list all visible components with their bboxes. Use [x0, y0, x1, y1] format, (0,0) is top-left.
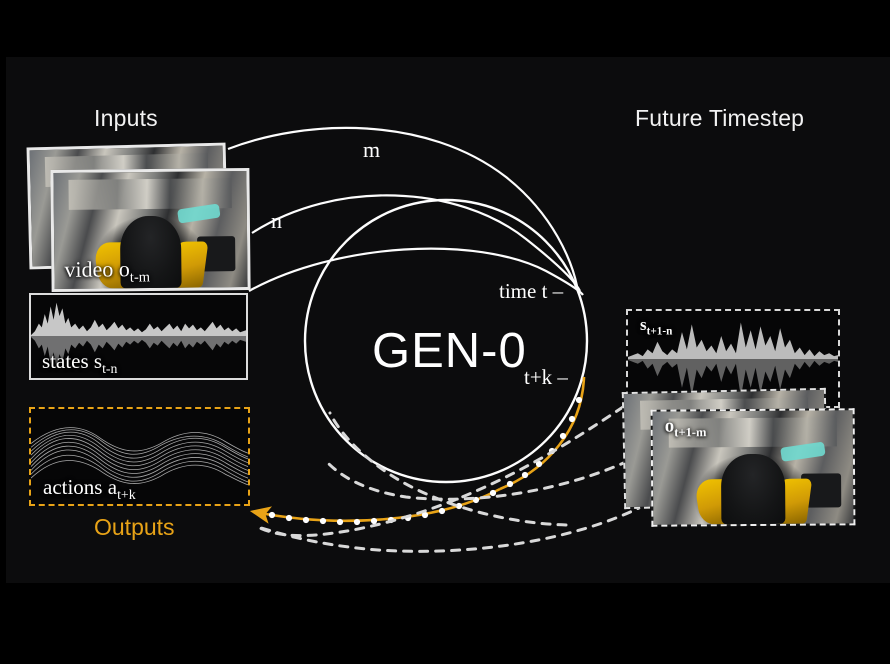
diagram-canvas: Inputs Future Timestep m n GEN-0 time t … — [0, 0, 890, 664]
section-title-outputs: Outputs — [94, 514, 175, 541]
orange-arc — [500, 377, 584, 489]
output-path-dots — [269, 397, 582, 525]
section-title-future-timestep: Future Timestep — [635, 105, 804, 132]
future-states-caption: st+1-n — [640, 315, 672, 337]
input-video-caption: video ot-m — [64, 256, 150, 287]
scene-teal-object — [177, 203, 221, 223]
output-actions-panel[interactable]: actions at+k — [29, 407, 250, 506]
dotted-inner-2 — [330, 413, 566, 525]
scene-gripper-right — [163, 241, 208, 288]
curve-m — [228, 128, 577, 286]
scene-teal-object — [780, 441, 826, 461]
curve-n — [252, 195, 580, 291]
model-name-label: GEN-0 — [372, 323, 527, 379]
future-video-frame-front[interactable]: ot+1-m — [651, 408, 856, 526]
dotted-feedback-1 — [258, 407, 623, 536]
output-actions-caption: actions at+k — [43, 475, 136, 503]
curve-label-m: m — [363, 137, 380, 163]
future-video-caption: ot+1-m — [665, 415, 707, 440]
tick-label-t-plus-k: t+k – — [524, 365, 568, 390]
input-states-caption: states st-n — [42, 349, 117, 377]
input-video-frame-front[interactable]: video ot-m — [50, 168, 250, 292]
input-states-panel[interactable]: states st-n — [29, 293, 248, 380]
output-arrow-path — [255, 489, 500, 521]
scene-gripper-right — [766, 478, 812, 524]
curve-label-n: n — [271, 208, 282, 234]
diagram-content-area: Inputs Future Timestep m n GEN-0 time t … — [6, 57, 890, 583]
dotted-feedback-2 — [258, 505, 645, 551]
section-title-inputs: Inputs — [94, 105, 158, 132]
tick-label-time-t: time t – — [499, 279, 563, 304]
scene-gripper-left — [694, 479, 741, 524]
dotted-inner-1 — [326, 461, 628, 499]
